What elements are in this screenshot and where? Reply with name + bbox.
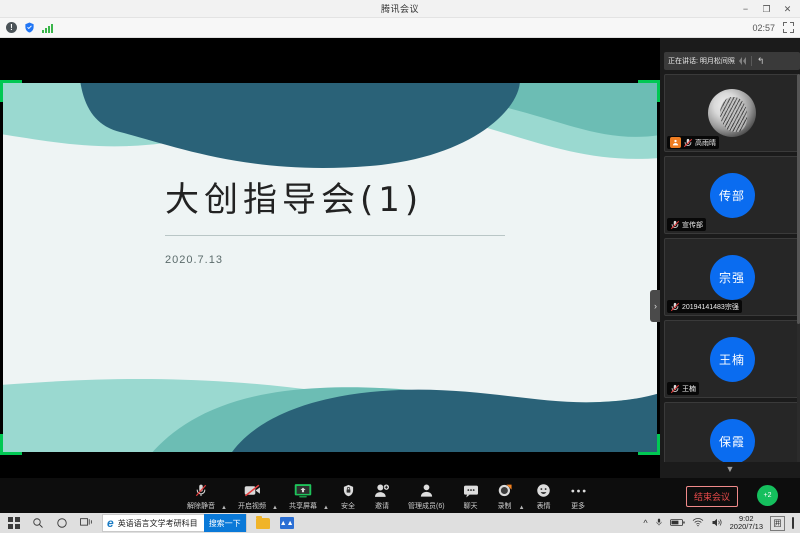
participant-name: 20194141483宗强 xyxy=(682,302,739,312)
participant-tile-list[interactable]: 高雨晴 传部 宣传部 宗强 xyxy=(664,74,800,462)
participant-name: 王楠 xyxy=(682,384,696,394)
avatar: 保霞 xyxy=(710,419,755,463)
toolbar-emoji-button[interactable]: 表情 xyxy=(527,480,561,511)
toolbar-chat-button[interactable]: 聊天 xyxy=(454,480,488,511)
microphone-tray-icon[interactable] xyxy=(655,516,663,530)
window-titlebar: 腾讯会议 − ❐ ✕ xyxy=(0,0,800,18)
participant-tile[interactable]: 高雨晴 xyxy=(664,74,800,152)
frame-mask-bottom xyxy=(22,452,638,455)
ime-icon[interactable]: 囲 xyxy=(770,516,785,531)
meeting-status-strip: ! 02:57 xyxy=(0,18,800,38)
participant-tile[interactable]: 宗强 20194141483宗强 xyxy=(664,238,800,316)
mic-muted-icon xyxy=(683,138,693,148)
toolbar-share-button[interactable]: 共享屏幕 xyxy=(280,480,326,511)
toolbar-label: 共享屏幕 xyxy=(289,501,317,511)
app-title: 腾讯会议 xyxy=(381,2,419,15)
avatar: 传部 xyxy=(710,173,755,218)
active-speaker-label: 正在讲话: 明月松间照 xyxy=(668,56,735,66)
shared-screen-stage[interactable]: 大创指导会(1) 2020.7.13 › xyxy=(0,38,660,478)
minimize-button[interactable]: − xyxy=(735,0,756,18)
maximize-button[interactable]: ❐ xyxy=(756,0,777,18)
end-meeting-button[interactable]: 结束会议 xyxy=(686,486,738,507)
file-explorer-icon[interactable] xyxy=(251,513,275,533)
participant-tile[interactable]: 保霞 王保霞 xyxy=(664,402,800,462)
avatar: 宗强 xyxy=(710,255,755,300)
meeting-toolbar: 解除静音 ▲ 开启视频 ▲ xyxy=(0,478,800,513)
wifi-icon[interactable] xyxy=(692,517,704,529)
divider xyxy=(751,56,752,66)
participant-namebar: 宣传部 xyxy=(667,218,706,231)
toolbar-label: 邀请 xyxy=(375,501,389,511)
edge-browser-icon: e xyxy=(107,516,114,530)
emoji-icon xyxy=(536,482,551,499)
signal-bars-icon[interactable] xyxy=(42,23,53,33)
search-query-text[interactable]: 英语语言文学考研科目 xyxy=(118,518,198,529)
more-dots-icon xyxy=(570,482,587,499)
participant-namebar: 高雨晴 xyxy=(667,136,719,149)
participant-name: 高雨晴 xyxy=(695,138,716,148)
close-button[interactable]: ✕ xyxy=(777,0,798,18)
frame-mask-left xyxy=(0,102,3,434)
return-arrow-icon[interactable]: ↰ xyxy=(757,56,765,67)
record-icon xyxy=(497,482,513,499)
status-icon-group: ! xyxy=(6,22,53,33)
meeting-timer: 02:57 xyxy=(752,23,775,33)
toolbar-record-button[interactable]: 录制 xyxy=(488,480,522,511)
participants-panel: 正在讲话: 明月松间照 ↰ 高雨晴 xyxy=(660,38,800,478)
frame-mask-top xyxy=(22,80,638,83)
toolbar-label: 管理成员(6) xyxy=(408,501,445,511)
participant-tile[interactable]: 传部 宣传部 xyxy=(664,156,800,234)
slide-title: 大创指导会(1) xyxy=(165,172,525,221)
shield-icon[interactable] xyxy=(24,22,35,33)
toolbar-security-button[interactable]: 安全 xyxy=(331,480,365,511)
toolbar-label: 开启视频 xyxy=(238,501,266,511)
mic-muted-icon xyxy=(670,384,680,394)
clock-date: 2020/7/13 xyxy=(730,523,763,531)
search-submit-button[interactable]: 搜索一下 xyxy=(204,514,246,532)
cortana-circle-icon[interactable] xyxy=(50,513,74,533)
fullscreen-icon[interactable] xyxy=(783,22,794,33)
toolbar-invite-button[interactable]: 邀请 xyxy=(365,480,399,511)
participant-tile[interactable]: 王楠 王楠 xyxy=(664,320,800,398)
slide-decoration xyxy=(0,80,660,455)
toolbar-items: 解除静音 ▲ 开启视频 ▲ xyxy=(178,480,596,511)
scroll-down-button[interactable]: ▼ xyxy=(660,462,800,476)
meeting-app-window: 腾讯会议 − ❐ ✕ ! 02:57 xyxy=(0,0,800,533)
host-icon xyxy=(670,137,681,148)
avatar xyxy=(708,89,756,137)
manage-members-icon xyxy=(419,482,434,499)
mic-muted-icon xyxy=(670,220,680,230)
share-screen-icon xyxy=(294,482,312,499)
toolbar-more-button[interactable]: 更多 xyxy=(561,480,596,511)
microphone-muted-icon xyxy=(194,482,208,499)
windows-taskbar: e 英语语言文学考研科目 搜索一下 ▲▲ ^ xyxy=(0,513,800,533)
taskbar-clock[interactable]: 9:02 2020/7/13 xyxy=(730,515,763,531)
participant-namebar: 王楠 xyxy=(667,382,699,395)
toolbar-video-button[interactable]: 开启视频 xyxy=(229,480,275,511)
status-right-group: 02:57 xyxy=(752,22,794,33)
avatar: 王楠 xyxy=(710,337,755,382)
participant-name: 宣传部 xyxy=(682,220,703,230)
action-center-icon[interactable] xyxy=(792,518,794,528)
participant-namebar: 20194141483宗强 xyxy=(667,300,742,313)
taskbar-search-box[interactable]: e 英语语言文学考研科目 搜索一下 xyxy=(102,514,247,532)
slide-divider xyxy=(165,235,505,236)
chat-bubble-icon xyxy=(463,482,479,499)
panel-collapse-handle[interactable]: › xyxy=(650,290,660,322)
search-icon[interactable] xyxy=(26,513,50,533)
sound-wave-icon xyxy=(739,57,746,65)
toolbar-label: 安全 xyxy=(341,501,355,511)
task-view-icon[interactable] xyxy=(74,513,98,533)
invite-person-icon xyxy=(374,482,390,499)
slide-text-block: 大创指导会(1) 2020.7.13 xyxy=(165,172,525,266)
toolbar-label: 录制 xyxy=(498,501,512,511)
shield-security-icon xyxy=(342,482,355,499)
app-icon[interactable]: ▲▲ xyxy=(275,513,299,533)
tray-chevron-icon[interactable]: ^ xyxy=(643,518,647,528)
active-speaker-bar: 正在讲话: 明月松间照 ↰ xyxy=(664,52,800,70)
toolbar-manage-members-button[interactable]: 管理成员(6) xyxy=(399,480,454,511)
windows-start-icon[interactable] xyxy=(2,513,26,533)
floating-bubble[interactable]: +2 xyxy=(757,485,778,506)
info-icon[interactable]: ! xyxy=(6,22,17,33)
camera-off-icon xyxy=(244,482,261,499)
toolbar-label: 表情 xyxy=(537,501,551,511)
presentation-slide: 大创指导会(1) 2020.7.13 xyxy=(0,80,660,455)
window-controls: − ❐ ✕ xyxy=(735,0,798,18)
mic-muted-icon xyxy=(670,302,680,312)
system-tray: ^ xyxy=(643,515,798,531)
toolbar-label: 解除静音 xyxy=(187,501,215,511)
toolbar-label: 聊天 xyxy=(464,501,478,511)
toolbar-label: 更多 xyxy=(571,501,585,511)
volume-icon[interactable] xyxy=(711,517,723,530)
toolbar-mute-button[interactable]: 解除静音 xyxy=(178,480,224,511)
battery-icon[interactable] xyxy=(670,518,685,529)
slide-date: 2020.7.13 xyxy=(165,254,525,266)
